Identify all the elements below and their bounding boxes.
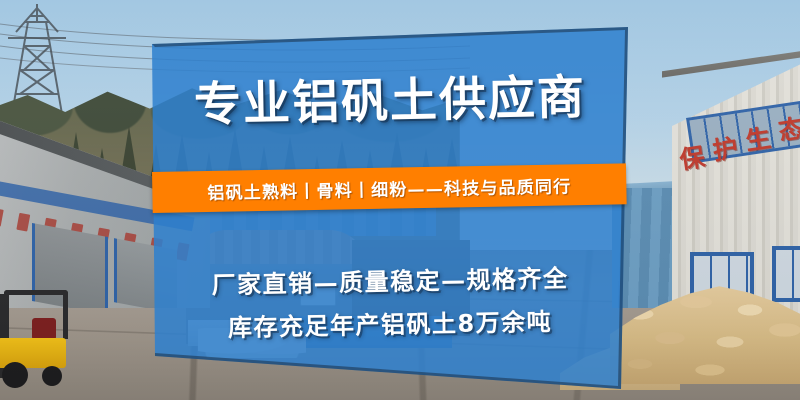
banner-headline: 专业铝矾土供应商 [152, 73, 629, 129]
bauxite-supplier-banner: 保 护 生 态 专业铝矾土供应商 铝矾土熟料丨骨料丨细粉——科技与品质同行 厂家… [0, 0, 800, 400]
banner-subline-1: 厂家直销—质量稳定—规格齐全 [152, 257, 629, 301]
banner-text-content: 专业铝矾土供应商 铝矾土熟料丨骨料丨细粉——科技与品质同行 厂家直销—质量稳定—… [0, 0, 800, 400]
orange-ribbon-label: 铝矾土熟料丨骨料丨细粉——科技与品质同行 [207, 172, 571, 204]
banner-subline-2: 库存充足年产铝矾土8万余吨 [152, 300, 629, 344]
orange-ribbon: 铝矾土熟料丨骨料丨细粉——科技与品质同行 [152, 163, 627, 213]
